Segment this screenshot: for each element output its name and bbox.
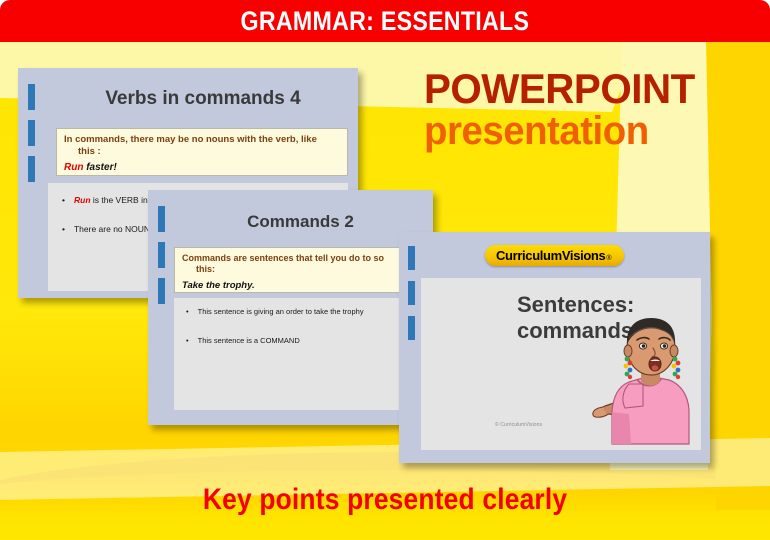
bullet-text: This sentence is giving an order to take… xyxy=(198,307,364,317)
headline-line-2: presentation xyxy=(424,111,741,151)
callout-line-2: Run faster! xyxy=(64,162,340,173)
bottom-caption: Key points presented clearly xyxy=(0,483,770,517)
callout-line-1: In commands, there may be no nouns with … xyxy=(64,134,340,157)
accent-bar-icon xyxy=(28,120,35,146)
registered-mark-icon: ® xyxy=(606,255,611,262)
accent-bar-icon xyxy=(408,316,415,340)
headline-line-1: POWERPOINT xyxy=(424,68,741,110)
cartoon-girl-illustration xyxy=(585,314,705,450)
slide-callout-box: In commands, there may be no nouns with … xyxy=(56,128,348,176)
slide-thumbnail-commands-2[interactable]: Commands 2 Commands are sentences that t… xyxy=(148,190,433,425)
slide-thumbnail-sentences-commands[interactable]: CurriculumVisions® Sentences: commands ©… xyxy=(399,232,710,463)
slide-callout-box: Commands are sentences that tell you do … xyxy=(174,247,424,293)
accent-bar-icon xyxy=(408,246,415,270)
callout-line-1-indent: this : xyxy=(64,146,340,158)
callout-line-1-indent: this: xyxy=(182,264,416,275)
accent-bar-icon xyxy=(408,281,415,305)
accent-bar-icon xyxy=(28,84,35,110)
caption-text: Key points presented clearly xyxy=(203,483,567,517)
accent-bar-icon xyxy=(158,242,165,268)
logo-text: CurriculumVisions xyxy=(496,248,605,263)
banner-title: GRAMMAR: ESSENTIALS xyxy=(241,6,530,37)
callout-emphasis: Run xyxy=(64,162,83,173)
bullet-marker-icon: • xyxy=(186,336,189,346)
slide-bullet: • This sentence is giving an order to ta… xyxy=(186,307,416,317)
bullet-text: Run is the VERB in xyxy=(74,195,148,206)
copyright-text: © CurriculumVisions xyxy=(495,422,542,428)
bullet-marker-icon: • xyxy=(186,307,189,317)
accent-bars xyxy=(408,246,415,340)
accent-bar-icon xyxy=(158,206,165,232)
accent-bars xyxy=(158,206,165,304)
callout-line-2: Take the trophy. xyxy=(182,280,416,291)
slide-title: Commands 2 xyxy=(178,212,423,232)
accent-bar-icon xyxy=(158,278,165,304)
accent-bar-icon xyxy=(28,156,35,182)
bullet-text: There are no NOUNS xyxy=(74,224,156,235)
callout-rest: faster! xyxy=(83,162,116,173)
bullet-marker-icon: • xyxy=(62,195,65,206)
slide-bullet: • This sentence is a COMMAND xyxy=(186,336,416,346)
headline-block: POWERPOINT presentation xyxy=(424,68,754,151)
poster-stage: GRAMMAR: ESSENTIALS POWERPOINT presentat… xyxy=(0,0,770,540)
curriculum-visions-logo: CurriculumVisions® xyxy=(485,245,624,266)
slide-title: Verbs in commands 4 xyxy=(58,88,348,110)
bullet-text: This sentence is a COMMAND xyxy=(198,336,300,346)
top-banner: GRAMMAR: ESSENTIALS xyxy=(0,0,770,42)
callout-line-1: Commands are sentences that tell you do … xyxy=(182,253,416,275)
accent-bars xyxy=(28,84,35,182)
bullet-marker-icon: • xyxy=(62,224,65,235)
